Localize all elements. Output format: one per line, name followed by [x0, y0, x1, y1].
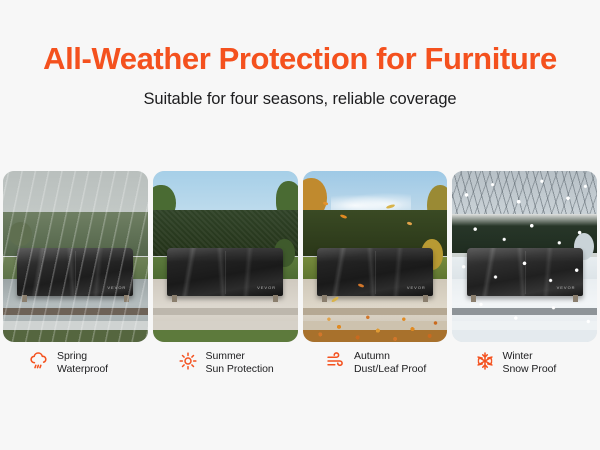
brand-logo: VEVOR: [257, 285, 276, 290]
patio-step-lower: [3, 321, 148, 330]
feature-winter-line2: Snow Proof: [503, 363, 557, 376]
feature-summer-text: Summer Sun Protection: [206, 350, 274, 376]
feature-spring-line2: Waterproof: [57, 363, 108, 376]
bush-shape: [9, 222, 32, 246]
feature-summer[interactable]: Summer Sun Protection: [152, 350, 301, 376]
season-panel-winter[interactable]: VEVOR: [452, 171, 597, 342]
sun-icon: [178, 351, 198, 371]
furniture-cover: VEVOR: [17, 248, 133, 296]
season-panel-summer[interactable]: VEVOR: [153, 171, 298, 342]
cover-seam: [375, 251, 376, 294]
furniture-leg-left: [22, 295, 27, 302]
patio-step-upper: [452, 308, 597, 315]
fallen-leaves: [303, 304, 448, 342]
page-subtitle: Suitable for four seasons, reliable cove…: [0, 90, 600, 109]
feature-label-row: Spring Waterproof Summer Sun Protection …: [0, 350, 600, 376]
patio-step-lower: [452, 321, 597, 330]
feature-autumn-text: Autumn Dust/Leaf Proof: [354, 350, 426, 376]
furniture-leg-right: [573, 295, 578, 302]
feature-winter[interactable]: Winter Snow Proof: [449, 350, 598, 376]
feature-winter-line1: Winter: [503, 350, 533, 362]
patio-step-upper: [153, 308, 298, 315]
feature-winter-text: Winter Snow Proof: [503, 350, 557, 376]
furniture-leg-left: [471, 295, 476, 302]
patio-step-lower: [153, 321, 298, 330]
season-panel-spring[interactable]: VEVOR: [3, 171, 148, 342]
patio-step-upper: [3, 308, 148, 315]
brand-logo: VEVOR: [407, 285, 426, 290]
page-title: All-Weather Protection for Furniture: [0, 42, 600, 76]
furniture-cover: VEVOR: [317, 248, 433, 296]
feature-spring-text: Spring Waterproof: [57, 350, 108, 376]
banner-header: All-Weather Protection for Furniture Sui…: [0, 0, 600, 109]
feature-autumn-line2: Dust/Leaf Proof: [354, 363, 426, 376]
season-panel-autumn[interactable]: VEVOR: [303, 171, 448, 342]
furniture-leg-right: [273, 295, 278, 302]
brand-logo: VEVOR: [107, 285, 126, 290]
marketing-banner: All-Weather Protection for Furniture Sui…: [0, 0, 600, 450]
cover-seam: [225, 251, 226, 294]
feature-spring-line1: Spring: [57, 350, 87, 362]
furniture-leg-left: [322, 295, 327, 302]
cover-seam: [525, 251, 526, 294]
rain-cloud-icon: [29, 351, 49, 371]
feature-summer-line2: Sun Protection: [206, 363, 274, 376]
foreground-snow: [452, 330, 597, 342]
furniture-leg-right: [423, 295, 428, 302]
furniture-cover: VEVOR: [467, 248, 583, 296]
wind-icon: [326, 351, 346, 371]
feature-summer-line1: Summer: [206, 350, 245, 362]
furniture-cover: VEVOR: [167, 248, 283, 296]
season-image-row: VEVOR VEVOR: [0, 171, 600, 342]
foreground-grass: [153, 330, 298, 342]
foreground-grass: [3, 330, 148, 342]
cover-seam: [75, 251, 76, 294]
furniture-leg-right: [124, 295, 129, 302]
furniture-leg-left: [172, 295, 177, 302]
feature-spring[interactable]: Spring Waterproof: [3, 350, 152, 376]
feature-autumn-line1: Autumn: [354, 350, 390, 362]
feature-autumn[interactable]: Autumn Dust/Leaf Proof: [300, 350, 449, 376]
snowflake-icon: [475, 351, 495, 371]
brand-logo: VEVOR: [557, 285, 576, 290]
